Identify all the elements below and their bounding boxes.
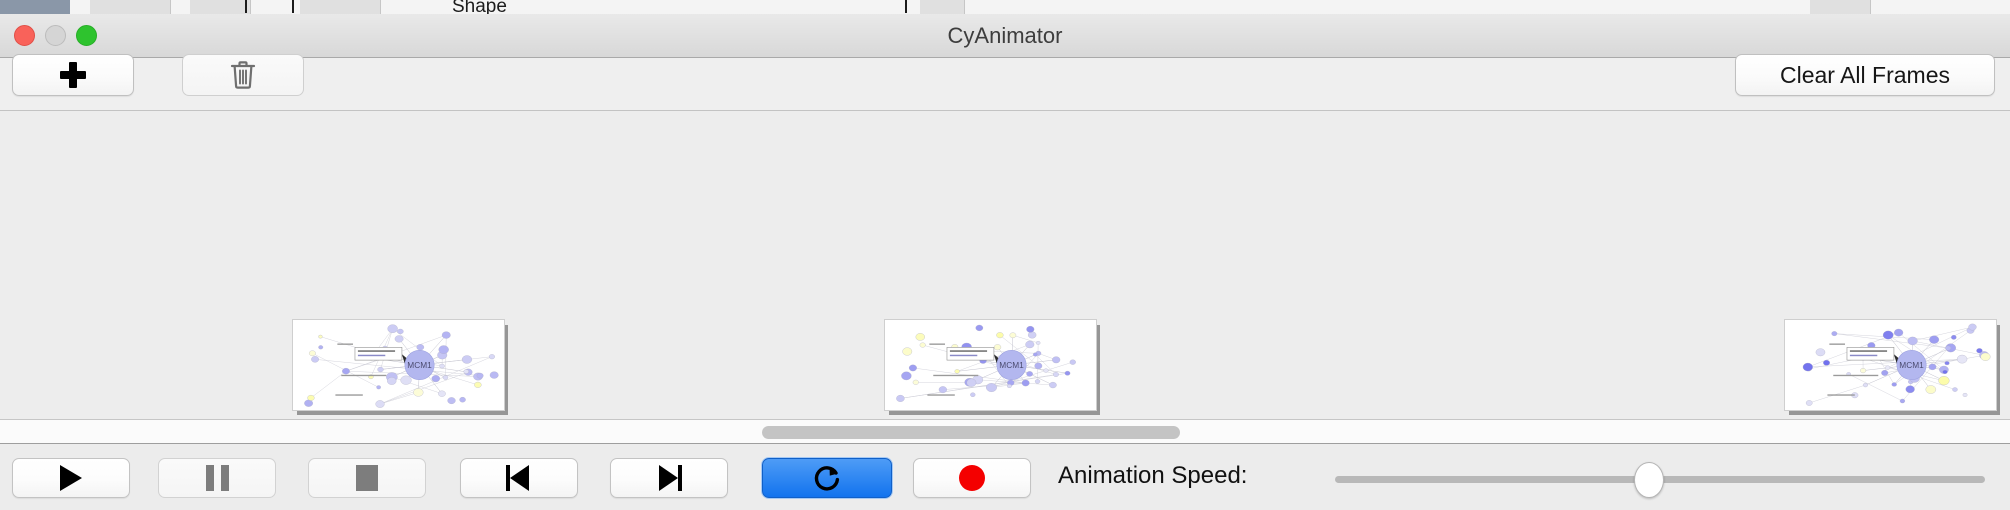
title-bar: CyAnimator [0, 14, 2010, 58]
delete-frame-button[interactable] [182, 54, 304, 96]
record-button[interactable] [913, 458, 1031, 498]
pause-button[interactable] [158, 458, 276, 498]
timeline-scrollbar[interactable] [0, 420, 2010, 444]
background-window-tick [292, 0, 294, 13]
hub-node-label: MCM1 [999, 360, 1024, 370]
clear-all-frames-label: Clear All Frames [1780, 62, 1950, 89]
background-window-chip [300, 0, 381, 14]
loop-button[interactable] [762, 458, 892, 498]
background-window-tick [905, 0, 907, 13]
background-window-chip [90, 0, 171, 14]
background-window-strip: Shape [0, 0, 2010, 15]
stop-button[interactable] [308, 458, 426, 498]
add-frame-button[interactable] [12, 54, 134, 96]
skip-to-start-button[interactable] [460, 458, 578, 498]
background-window-label: Shape [452, 0, 507, 15]
clear-all-frames-button[interactable]: Clear All Frames [1735, 54, 1995, 96]
plus-icon [60, 62, 86, 88]
scrollbar-thumb[interactable] [762, 426, 1180, 439]
background-window-chip [920, 0, 965, 14]
background-window-chip [190, 0, 251, 14]
frame-thumbnail-2[interactable]: MCM1 [884, 319, 1097, 411]
skip-to-end-button[interactable] [610, 458, 728, 498]
hub-node-label: MCM1 [407, 360, 432, 370]
loop-icon [812, 463, 842, 493]
frame-thumbnail-1[interactable]: MCM1 [292, 319, 505, 411]
cyanimator-window: Shape CyAnimator Clear All Frames MCM1MC… [0, 0, 2010, 510]
record-icon [959, 465, 985, 491]
timeline-panel[interactable]: MCM1MCM1MCM1 12131415161718 Seconds [0, 111, 2010, 420]
frame-thumbnail-3[interactable]: MCM1 [1784, 319, 1997, 411]
animation-speed-slider[interactable] [1335, 470, 1985, 488]
window-title: CyAnimator [0, 14, 2010, 57]
play-icon [60, 465, 82, 491]
network-graph: MCM1 [293, 320, 504, 410]
background-window-selection [0, 0, 70, 14]
skip-back-icon [506, 465, 532, 491]
stop-icon [356, 465, 378, 491]
network-graph: MCM1 [1785, 320, 1996, 410]
skip-forward-icon [656, 465, 682, 491]
animation-speed-label: Animation Speed: [1058, 462, 1247, 490]
hub-node-label: MCM1 [1899, 360, 1924, 370]
play-button[interactable] [12, 458, 130, 498]
slider-thumb[interactable] [1634, 462, 1664, 498]
pause-icon [206, 465, 229, 491]
trash-icon [229, 60, 257, 90]
background-window-tick [245, 0, 247, 13]
network-graph: MCM1 [885, 320, 1096, 410]
background-window-chip [1810, 0, 1871, 14]
